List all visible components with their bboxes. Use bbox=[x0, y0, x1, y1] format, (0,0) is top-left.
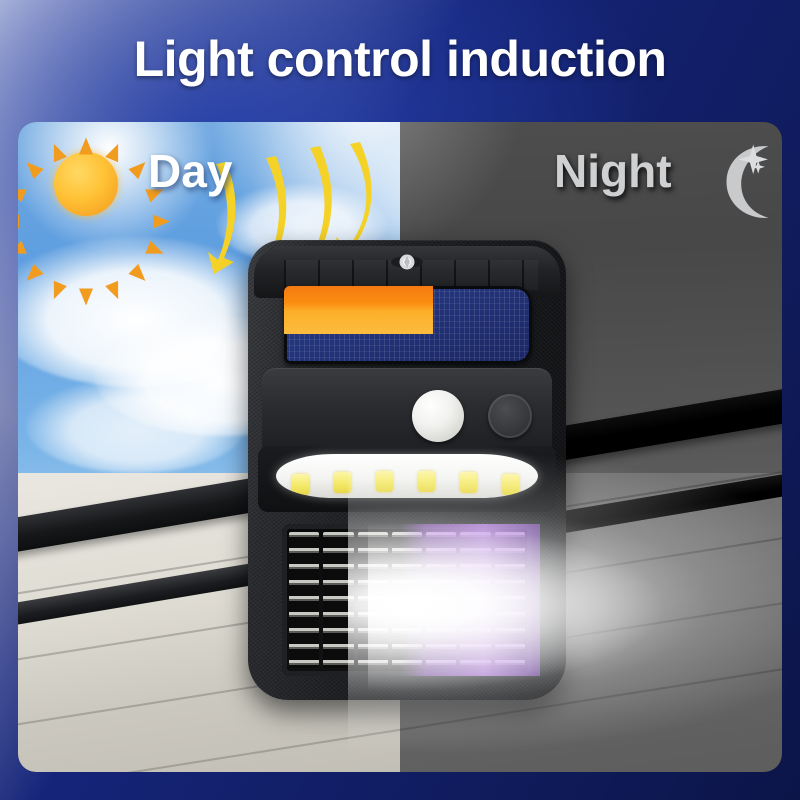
mosquito-grid bbox=[282, 524, 532, 676]
page-title: Light control induction bbox=[0, 30, 800, 88]
light-sensor bbox=[488, 394, 532, 438]
day-label: Day bbox=[148, 144, 232, 198]
solar-lamp-device bbox=[248, 240, 566, 700]
led-chip bbox=[376, 471, 393, 492]
led-chip bbox=[460, 472, 477, 493]
grid-column bbox=[460, 532, 490, 668]
sensor-section bbox=[262, 368, 552, 458]
led-strip bbox=[276, 454, 538, 498]
led-chip bbox=[292, 474, 309, 495]
marketing-banner: Light control induction bbox=[0, 0, 800, 800]
grid-column bbox=[323, 532, 353, 668]
led-housing bbox=[258, 446, 556, 512]
led-chip bbox=[502, 474, 519, 495]
grid-column bbox=[495, 532, 525, 668]
product-photo-panel: Day Night bbox=[18, 122, 782, 772]
led-chip bbox=[418, 471, 435, 492]
solar-panel bbox=[284, 286, 532, 364]
grid-column bbox=[392, 532, 422, 668]
night-label: Night bbox=[554, 144, 672, 198]
led-chip bbox=[334, 472, 351, 493]
solar-sunlight-reflection bbox=[284, 286, 433, 334]
moon-icon bbox=[708, 140, 782, 218]
grid-column bbox=[358, 532, 388, 668]
pir-dome-sensor bbox=[412, 390, 464, 442]
screw-icon bbox=[390, 252, 424, 272]
grid-column bbox=[289, 532, 319, 668]
grid-column bbox=[426, 532, 456, 668]
